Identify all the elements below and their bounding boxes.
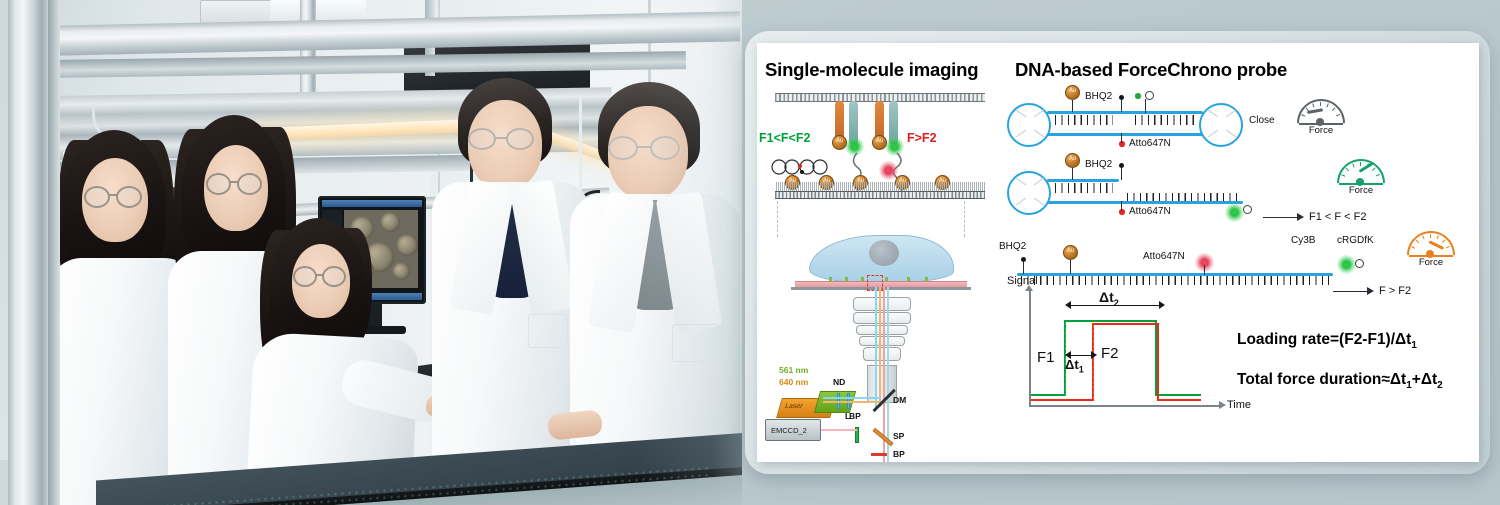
beam-laser-path — [823, 397, 881, 399]
bp-label-2: BP — [893, 449, 905, 459]
gold-nanoparticle-2 — [1065, 153, 1080, 168]
atto647n-label-1: Atto647N — [1129, 138, 1171, 149]
panel-title-right: DNA-based ForceChrono probe — [1015, 59, 1287, 81]
chart-x-arrow — [1219, 401, 1226, 409]
duration-subscript-2: 2 — [1437, 380, 1443, 391]
dna-strand-bottom-2 — [1047, 201, 1243, 204]
wavelength-561-label: 561 nm — [779, 365, 808, 375]
bhq2-stem-2 — [1121, 168, 1122, 180]
state-label-partial: F1 < F < F2 — [1309, 211, 1366, 223]
f2-label: F2 — [1101, 345, 1119, 362]
beam-emission-2 — [887, 287, 889, 462]
chart-red-guide — [1093, 325, 1094, 399]
f1-label: F1 — [1037, 349, 1055, 366]
bhq2-stem-3 — [1023, 262, 1024, 274]
state-label-close: Close — [1249, 115, 1275, 126]
chart-y-arrow — [1025, 285, 1033, 291]
gold-nanoparticle-3 — [1063, 245, 1078, 260]
laser-label: Laser — [784, 403, 804, 410]
zoom-cone — [777, 201, 965, 237]
state-label-extended: F > F2 — [1379, 285, 1411, 297]
chart-y-axis — [1029, 289, 1031, 407]
duration-mid-text: +Δt — [1412, 371, 1437, 388]
dna-strand-top-2 — [1047, 179, 1119, 182]
dt2-text: Δt — [1099, 289, 1114, 305]
bhq2-stem-1 — [1121, 100, 1122, 112]
cy3b-glow-3 — [1337, 255, 1356, 274]
single-molecule-imaging-schematic: F1<F<F2 F>F2 — [757, 83, 997, 458]
atto647n-label-3: Atto647N — [1143, 251, 1185, 262]
au-stem-3 — [1070, 260, 1071, 274]
sp-label: SP — [893, 431, 904, 441]
beam-laser-path-2 — [823, 401, 881, 403]
ssdna-ticks-2 — [1127, 193, 1241, 201]
bhq2-label-3: BHQ2 — [999, 241, 1026, 252]
dt1-label: Δt1 — [1065, 357, 1084, 375]
atto-stem-2 — [1121, 201, 1122, 211]
photo-edge-fade — [640, 0, 742, 505]
base-pair-rungs-1b — [1135, 115, 1195, 125]
force-gauge-extended — [1407, 231, 1455, 257]
chart-green-seg-2 — [1155, 394, 1201, 396]
cell-nucleus — [869, 240, 899, 266]
force-gauge-label-2: Force — [1337, 185, 1385, 196]
beam-561 — [875, 287, 877, 407]
loading-rate-subscript: 1 — [1411, 340, 1417, 351]
lab-team-photo — [0, 0, 742, 505]
au-stem-2 — [1072, 168, 1073, 180]
beam-640 — [879, 287, 881, 407]
bhq2-label-1: BHQ2 — [1085, 91, 1112, 102]
bp-label-1: BP — [849, 411, 861, 421]
hairpin-loop-left-1 — [1007, 103, 1051, 147]
force-gauge-closed — [1297, 99, 1345, 125]
bhq2-label-2: BHQ2 — [1085, 159, 1112, 170]
chart-red-seg-1 — [1031, 399, 1093, 401]
dna-strand-bottom-1 — [1047, 133, 1203, 136]
crgdfk-label-3: cRGDfK — [1337, 235, 1374, 246]
panel-title-left: Single-molecule imaging — [765, 59, 978, 81]
crgdfk-ring-2 — [1243, 205, 1252, 214]
bandpass-element-2 — [871, 453, 887, 456]
emccd-2-label: EMCCD_2 — [771, 426, 807, 435]
dna-strand-top-1 — [1047, 111, 1203, 114]
hairpin-loop-left-2 — [1007, 171, 1051, 215]
cy3b-label-3: Cy3B — [1291, 235, 1315, 246]
dt1-text: Δt — [1065, 357, 1079, 372]
dm-label: DM — [893, 395, 906, 405]
ligand-stem-1 — [1145, 99, 1146, 113]
atto-stem-1 — [1121, 133, 1122, 143]
hairpin-loop-right-1 — [1199, 103, 1243, 147]
photo-person-4 — [432, 78, 590, 505]
force-gauge-label-3: Force — [1407, 257, 1455, 268]
dt1-subscript: 1 — [1079, 365, 1084, 375]
chart-red-plateau — [1092, 323, 1158, 325]
dt2-arrow-left — [1065, 301, 1071, 309]
dt1-arrow-right — [1091, 351, 1097, 359]
dt2-subscript: 2 — [1114, 298, 1119, 308]
cy3b-dot-1 — [1135, 93, 1141, 99]
state-arrow-head-2 — [1297, 213, 1304, 221]
state-arrow-2 — [1263, 217, 1297, 218]
signal-time-chart: Signal Time Δt2 — [1001, 283, 1241, 443]
base-pair-rungs-2 — [1055, 183, 1113, 193]
force-range-label-low: F1<F<F2 — [759, 131, 810, 145]
force-gauge-partial — [1337, 159, 1385, 185]
crgdfk-ring-3 — [1355, 259, 1364, 268]
gold-nanoparticle-1 — [1065, 85, 1080, 100]
photo-frame-post-1 — [8, 0, 48, 505]
figure-root: Single-molecule imaging DNA-based ForceC… — [0, 0, 1500, 505]
functionalized-surface — [775, 191, 985, 199]
loading-rate-text: Loading rate=(F2-F1)/Δt — [1237, 331, 1411, 348]
wavelength-640-label: 640 nm — [779, 377, 808, 387]
atto647n-label-2: Atto647N — [1129, 206, 1171, 217]
figure-panel: Single-molecule imaging DNA-based ForceC… — [757, 43, 1479, 462]
dt2-label: Δt2 — [1099, 289, 1119, 308]
objective-lens — [853, 297, 911, 363]
chart-x-axis — [1029, 405, 1219, 407]
force-gauge-label-1: Force — [1297, 125, 1345, 136]
chart-green-seg-1 — [1031, 394, 1065, 396]
base-pair-rungs-1a — [1055, 115, 1113, 125]
atto-stem-3 — [1204, 265, 1205, 275]
dt2-arrow-right — [1159, 301, 1165, 309]
force-duration-equation: Total force duration≈Δt1+Δt2 — [1237, 371, 1443, 391]
state-arrow-head-3 — [1367, 287, 1374, 295]
chart-red-seg-2 — [1157, 399, 1201, 401]
duration-text: Total force duration≈Δt — [1237, 371, 1406, 388]
nd-label: ND — [833, 377, 845, 387]
cy3b-glow-2 — [1225, 203, 1244, 222]
force-range-label-high: F>F2 — [907, 131, 937, 145]
chart-xlabel: Time — [1227, 399, 1251, 411]
state-arrow-3 — [1333, 291, 1367, 292]
loading-rate-equation: Loading rate=(F2-F1)/Δt1 — [1237, 331, 1417, 351]
au-stem-1 — [1072, 100, 1073, 112]
photo-frame-post-1b — [48, 0, 60, 505]
chart-green-plateau — [1064, 320, 1157, 322]
chart-red-fall — [1157, 323, 1159, 401]
